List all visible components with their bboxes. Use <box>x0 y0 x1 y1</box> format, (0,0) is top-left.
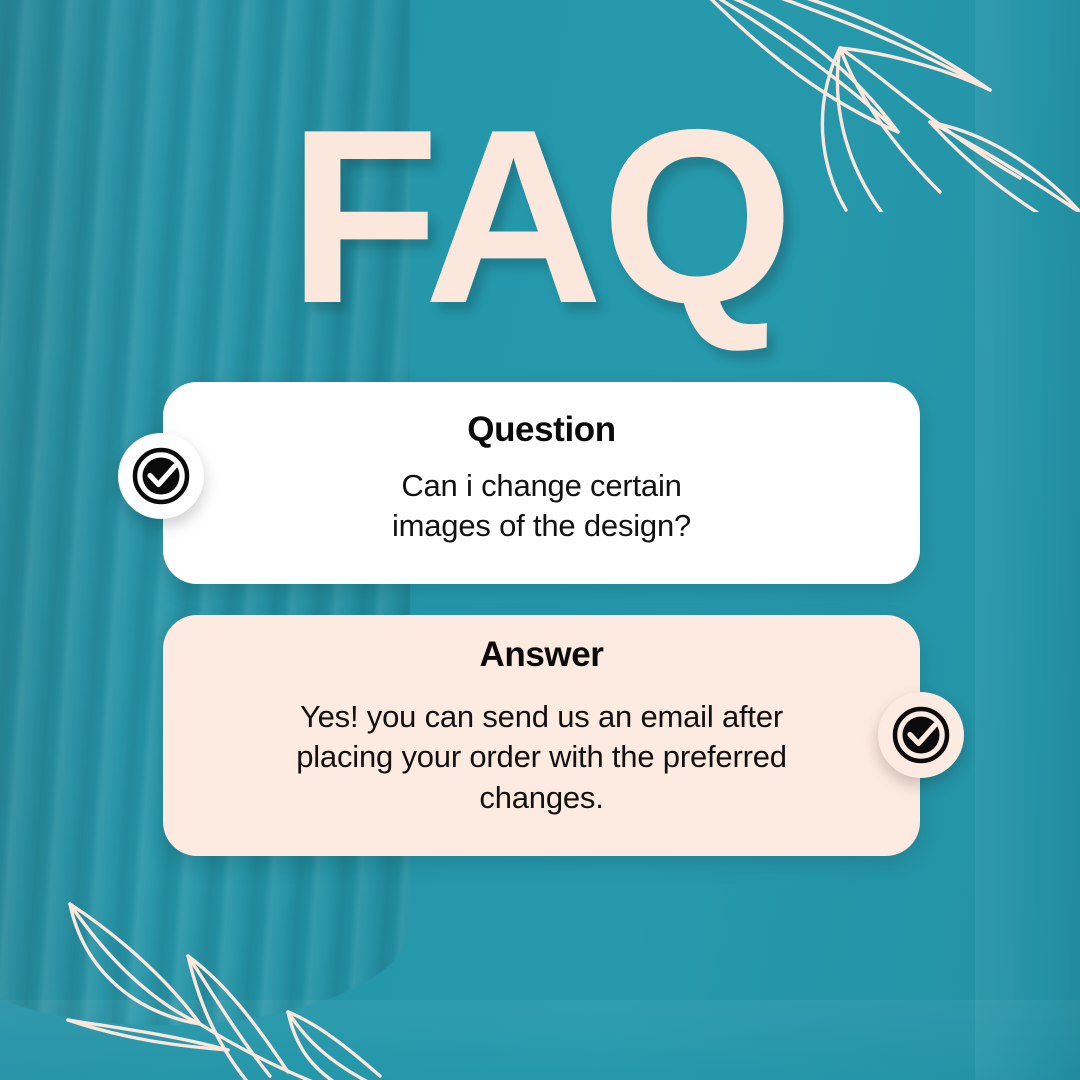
question-heading: Question <box>163 410 920 450</box>
page-title: FAQ <box>0 92 1080 340</box>
check-circle-icon <box>892 706 950 764</box>
answer-text: Yes! you can send us an email after plac… <box>237 697 847 818</box>
check-circle-icon <box>132 447 190 505</box>
question-text: Can i change certain images of the desig… <box>222 466 862 547</box>
answer-check-badge <box>878 692 964 778</box>
question-check-badge <box>118 433 204 519</box>
question-card: Question Can i change certain images of … <box>163 382 920 584</box>
faq-poster: FAQ Question Can i change certain images… <box>0 0 1080 1080</box>
answer-card: Answer Yes! you can send us an email aft… <box>163 615 920 856</box>
answer-heading: Answer <box>163 635 920 675</box>
floor-highlight <box>0 1000 1080 1080</box>
